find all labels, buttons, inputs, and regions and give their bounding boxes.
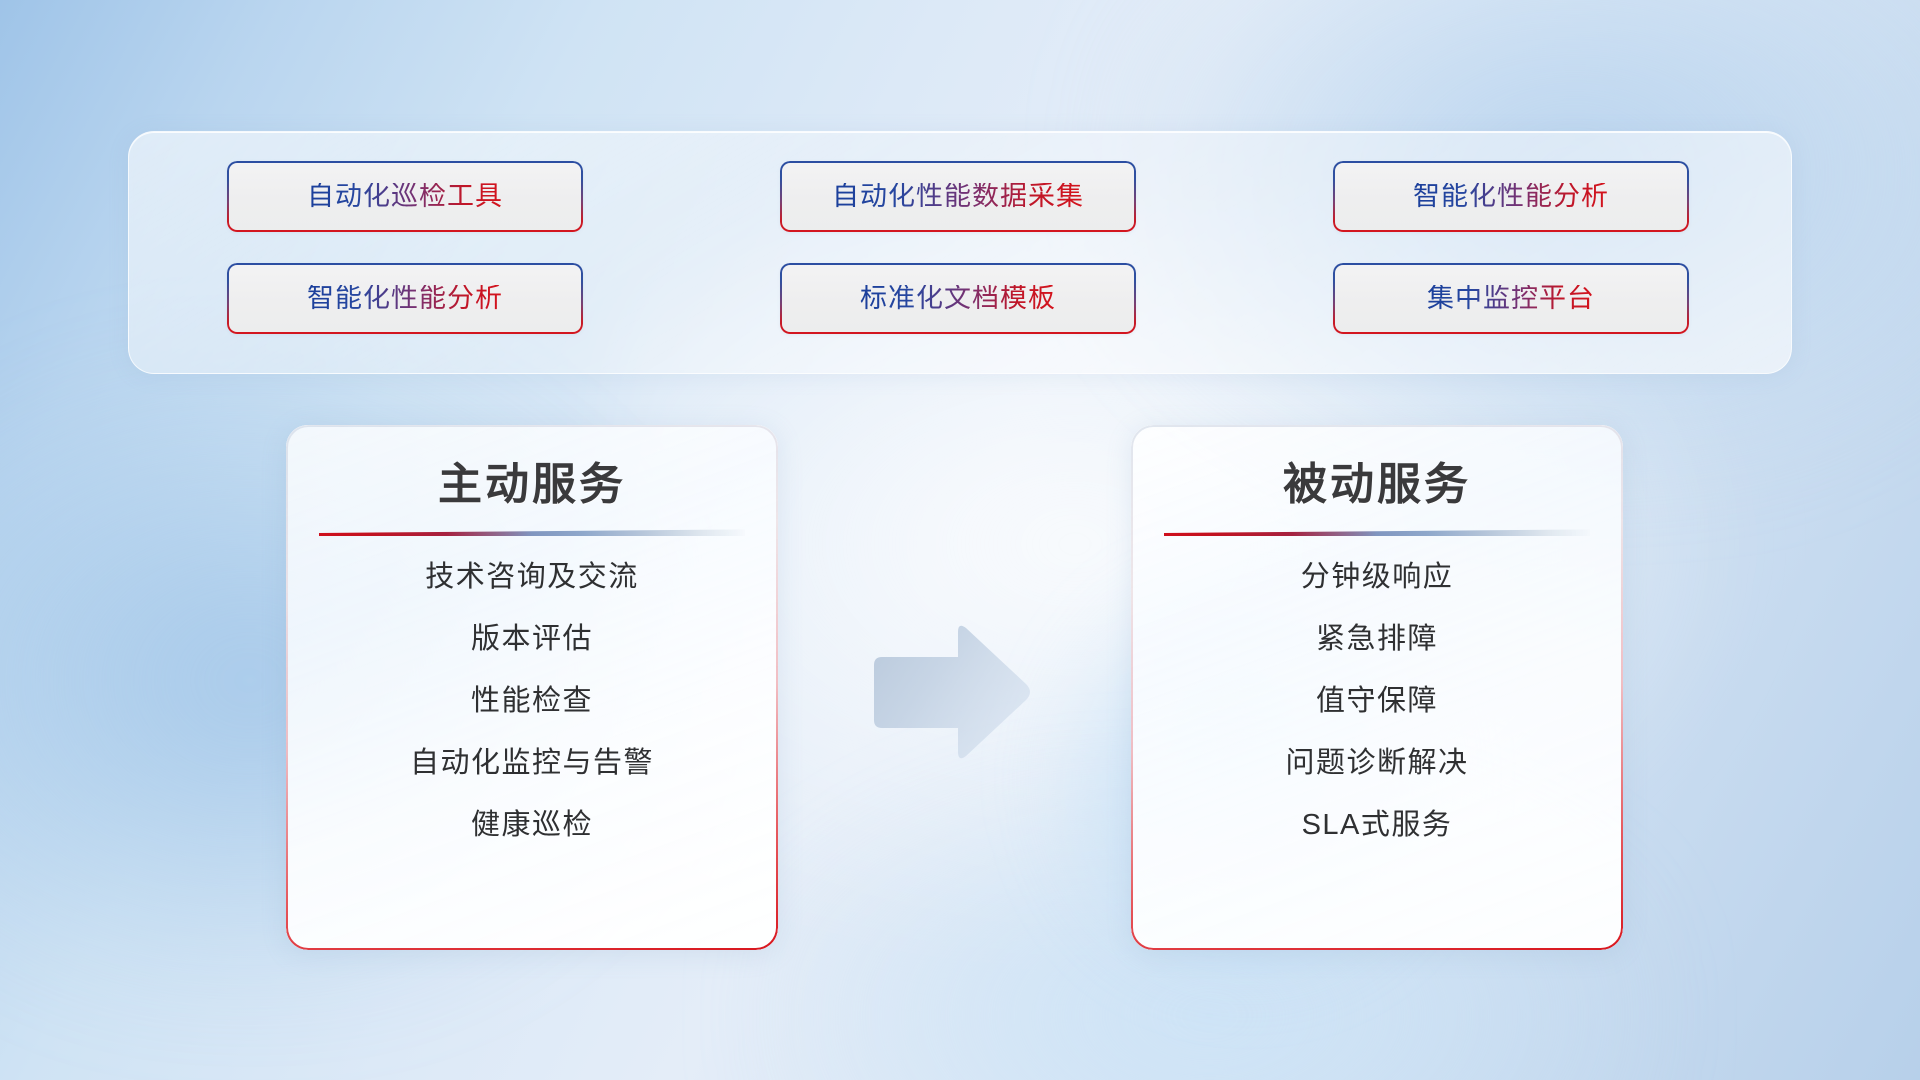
service-card-reactive-list: 分钟级响应 紧急排障 值守保障 问题诊断解决 SLA式服务	[1131, 562, 1623, 841]
capability-pill-5-label: 标准化文档模板	[860, 285, 1056, 312]
arrow-right-icon	[866, 618, 1036, 768]
service-card-reactive-title: 被动服务	[1283, 461, 1471, 509]
list-item: 值守保障	[1316, 686, 1438, 718]
capability-pill-6-label: 集中监控平台	[1427, 285, 1595, 312]
capability-pill-4[interactable]: 智能化性能分析	[227, 263, 583, 334]
service-card-reactive-divider	[1164, 529, 1590, 536]
flow-arrow	[866, 618, 1036, 768]
capability-pill-5[interactable]: 标准化文档模板	[780, 263, 1136, 334]
service-card-proactive-title: 主动服务	[438, 461, 626, 509]
list-item: 分钟级响应	[1301, 562, 1454, 594]
capability-pill-2[interactable]: 自动化性能数据采集	[780, 161, 1136, 232]
capability-pill-6[interactable]: 集中监控平台	[1333, 263, 1689, 334]
service-card-proactive: 主动服务 技术咨询及交流 版本评估 性能检查 自动化监控与告警 健康巡检	[286, 425, 778, 950]
capability-pill-2-label: 自动化性能数据采集	[832, 183, 1084, 210]
list-item: 版本评估	[471, 624, 593, 656]
capability-pill-3-label: 智能化性能分析	[1413, 183, 1609, 210]
service-card-proactive-list: 技术咨询及交流 版本评估 性能检查 自动化监控与告警 健康巡检	[286, 562, 778, 841]
list-item: 紧急排障	[1316, 624, 1438, 656]
capability-pill-3[interactable]: 智能化性能分析	[1333, 161, 1689, 232]
diagram-stage: 自动化巡检工具 自动化性能数据采集 智能化性能分析 智能化性能分析 标准化文档模…	[0, 0, 1920, 1080]
list-item: 问题诊断解决	[1285, 748, 1468, 780]
capability-pill-1[interactable]: 自动化巡检工具	[227, 161, 583, 232]
service-card-reactive: 被动服务 分钟级响应 紧急排障 值守保障 问题诊断解决 SLA式服务	[1131, 425, 1623, 950]
service-card-proactive-divider	[319, 529, 745, 536]
list-item: 健康巡检	[471, 810, 593, 842]
capability-pill-4-label: 智能化性能分析	[307, 285, 503, 312]
list-item: 技术咨询及交流	[425, 562, 639, 594]
list-item: 自动化监控与告警	[410, 748, 654, 780]
list-item: 性能检查	[471, 686, 593, 718]
capability-pill-grid: 自动化巡检工具 自动化性能数据采集 智能化性能分析 智能化性能分析 标准化文档模…	[227, 161, 1697, 347]
capability-pill-1-label: 自动化巡检工具	[307, 183, 503, 210]
list-item: SLA式服务	[1302, 810, 1453, 842]
capability-panel: 自动化巡检工具 自动化性能数据采集 智能化性能分析 智能化性能分析 标准化文档模…	[128, 131, 1792, 374]
